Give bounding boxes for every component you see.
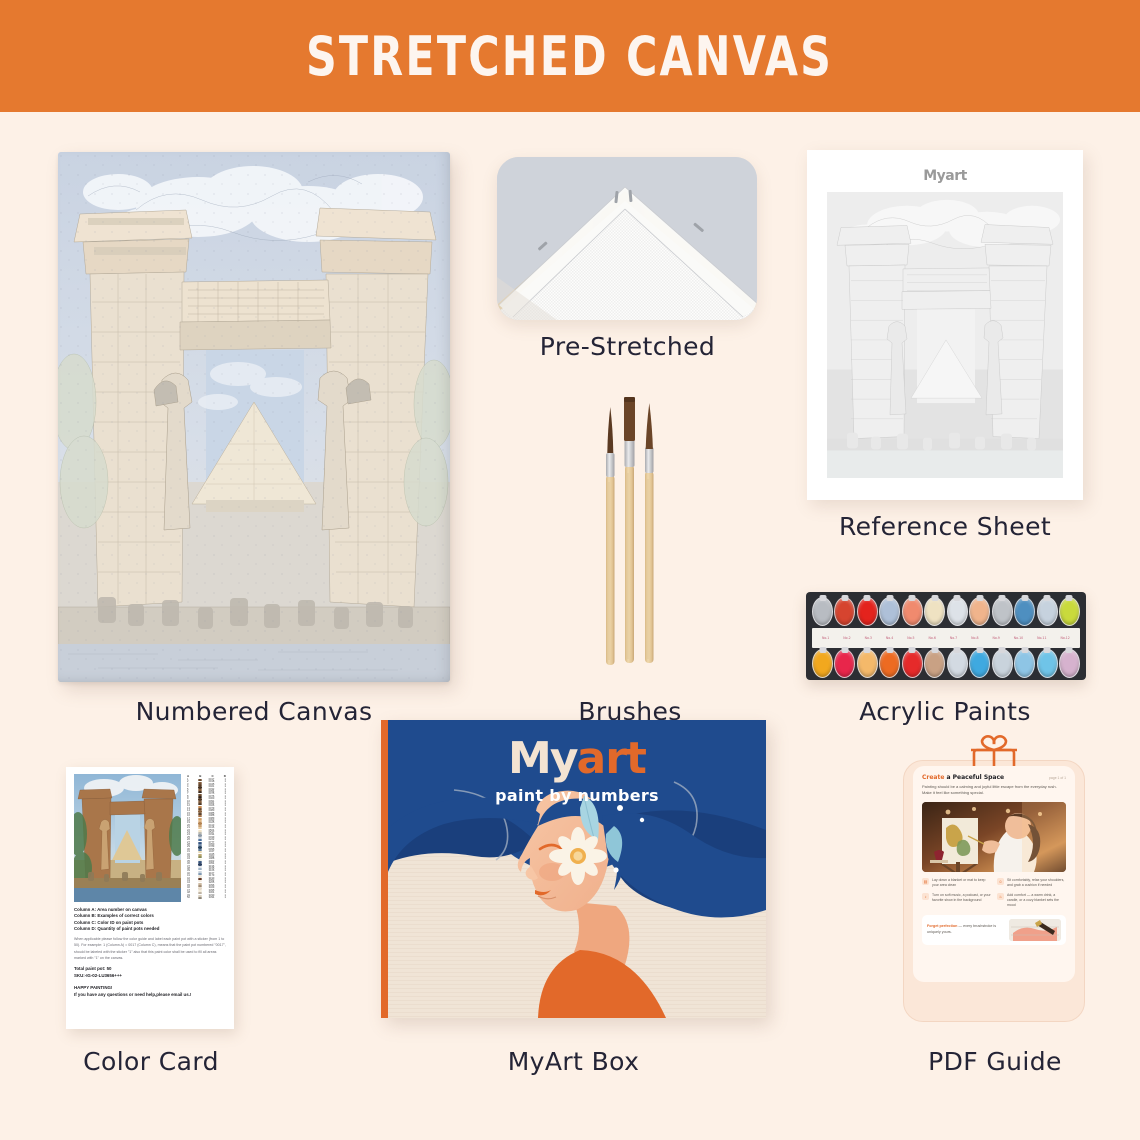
paint-pot-label: No.3	[865, 636, 872, 640]
paint-pot	[1037, 649, 1058, 678]
paint-row-top	[812, 597, 1080, 627]
caption-reference-sheet: Reference Sheet	[790, 512, 1100, 541]
pdf-tip: ♪ Turn on soft music, a podcast, or your…	[922, 893, 991, 909]
pdf-tip-text: Turn on soft music, a podcast, or your f…	[932, 893, 991, 909]
paint-pot	[812, 597, 833, 626]
cc-color-id: 3394	[206, 897, 217, 899]
paint-tray-label: No.1No.2No.3No.4No.5No.6No.7No.8No.9No.1…	[812, 628, 1080, 648]
color-card-fine-print: When applicable please follow the color …	[74, 936, 227, 961]
paint-pot	[1037, 597, 1058, 626]
caption-pre-stretched: Pre-Stretched	[480, 332, 775, 361]
paint-pot	[857, 597, 878, 626]
pdf-tip: ♨ Add comfort — a warm drink, a candle, …	[997, 893, 1066, 909]
paint-pot	[924, 597, 945, 626]
pdf-guide-page: Create a Peaceful Space page 1 of 1 Pain…	[913, 766, 1075, 982]
candle-icon: ♨	[997, 893, 1004, 900]
paint-pot	[1014, 597, 1035, 626]
blanket-icon: ▤	[922, 878, 929, 885]
brush-round	[645, 403, 654, 663]
paint-pot	[992, 649, 1013, 678]
paint-tray: No.1No.2No.3No.4No.5No.6No.7No.8No.9No.1…	[806, 592, 1086, 680]
pdf-page-label: page 1 of 1	[1049, 776, 1066, 780]
egyptian-gate-lineart	[58, 152, 450, 682]
full-color-gate-painting	[74, 774, 181, 902]
total-paint-pot: Total paint pot: 50	[74, 966, 227, 972]
brush-stroke-closeup	[1009, 919, 1061, 941]
pdf-guide-item: Create a Peaceful Space page 1 of 1 Pain…	[903, 732, 1085, 1022]
paint-brushes-illustration	[568, 387, 693, 677]
myart-box-image: Myart paint by numbers	[381, 720, 766, 1018]
pdf-heading-highlight: Create	[922, 774, 944, 781]
paint-pot-label: No.4	[886, 636, 893, 640]
page-header: STRETCHED CANVAS	[0, 0, 1140, 112]
logo-art-text: art	[577, 733, 646, 784]
caption-color-card: Color Card	[36, 1047, 266, 1076]
canvas-corner-illustration	[497, 157, 757, 320]
reference-sheet-item: Myart	[807, 150, 1083, 500]
pdf-note-image	[1009, 919, 1061, 941]
reference-sheet-lineart	[827, 192, 1063, 478]
cc-quantity: 1	[221, 897, 226, 899]
paint-pot	[857, 649, 878, 678]
sku-text: SKU:-IG-02-LU3656+++	[74, 973, 227, 979]
pdf-tip-text: Sit comfortably, relax your shoulders, a…	[1007, 878, 1066, 889]
paint-pot	[834, 649, 855, 678]
paint-pot-label: No.8	[971, 636, 978, 640]
paint-pot	[1059, 649, 1080, 678]
pdf-tips-list: ▤ Lay down a blanket or mat to keep your…	[922, 878, 1066, 909]
paint-pot-label: No.1	[822, 636, 829, 640]
pdf-heading: Create a Peaceful Space	[922, 774, 1004, 781]
pdf-tip: ☺ Sit comfortably, relax your shoulders,…	[997, 878, 1066, 889]
paint-pot-label: No.12	[1060, 636, 1069, 640]
product-contents-grid: Numbered Canvas	[0, 112, 1140, 1140]
pre-stretched-item	[497, 157, 757, 320]
logo-my-text: My	[508, 733, 576, 784]
legend-d: Column D: Quantity of paint pots needed	[74, 926, 227, 932]
support-text: If you have any questions or need help,p…	[74, 992, 227, 998]
pdf-tip-text: Lay down a blanket or mat to keep your a…	[932, 878, 991, 889]
caption-acrylic-paints: Acrylic Paints	[800, 697, 1090, 726]
pre-stretched-photo	[497, 157, 757, 320]
page-title: STRETCHED CANVAS	[306, 25, 833, 88]
myart-box-item: Myart paint by numbers	[381, 720, 766, 1018]
paint-pot-label: No.2	[843, 636, 850, 640]
brush-round-thin	[606, 407, 615, 665]
caption-myart-box: MyArt Box	[381, 1047, 766, 1076]
color-card-legend: Column A: Area number on canvas Column B…	[74, 907, 227, 998]
paint-pot	[947, 597, 968, 626]
logo-tagline: paint by numbers	[388, 786, 766, 805]
caption-pdf-guide: PDF Guide	[880, 1047, 1110, 1076]
paint-pot	[947, 649, 968, 678]
pdf-tip-text: Add comfort — a warm drink, a candle, or…	[1007, 893, 1066, 909]
paint-pot	[992, 597, 1013, 626]
paint-pot-label: No.10	[1014, 636, 1023, 640]
paint-pot	[879, 649, 900, 678]
paint-pot	[924, 649, 945, 678]
color-card-row: 5033941	[186, 897, 227, 899]
cc-area-number: 50	[187, 897, 194, 899]
myart-box-logo: Myart paint by numbers	[388, 733, 766, 805]
pdf-note-text: Forget perfection — every brushstroke is…	[927, 924, 1004, 935]
color-card-sheet: A B C D 10017120018130045140021150032160…	[66, 767, 234, 1029]
paint-pot	[902, 597, 923, 626]
brushes-item	[568, 387, 693, 677]
paint-pot	[1014, 649, 1035, 678]
paint-pot	[969, 597, 990, 626]
paint-pot	[969, 649, 990, 678]
numbered-canvas-image	[58, 152, 450, 682]
color-card-table: A B C D 10017120018130045140021150032160…	[186, 774, 227, 902]
paint-pot-label: No.7	[950, 636, 957, 640]
happy-painting-text: HAPPY PAINTING!	[74, 985, 227, 991]
woman-painting-photo	[922, 802, 1066, 872]
paint-pot	[812, 649, 833, 678]
paint-pot	[1059, 597, 1080, 626]
pdf-tip: ▤ Lay down a blanket or mat to keep your…	[922, 878, 991, 889]
paint-pot	[902, 649, 923, 678]
brush-flat	[624, 397, 635, 663]
paint-pot-label: No.6	[929, 636, 936, 640]
grayscale-gate-lineart	[827, 192, 1063, 478]
color-card-item: A B C D 10017120018130045140021150032160…	[66, 767, 234, 1029]
paint-pot-label: No.9	[992, 636, 999, 640]
col-b: B	[199, 774, 201, 778]
paint-pot	[834, 597, 855, 626]
acrylic-paints-item: No.1No.2No.3No.4No.5No.6No.7No.8No.9No.1…	[806, 592, 1086, 680]
chair-icon: ☺	[997, 878, 1004, 885]
pdf-note-box: Forget perfection — every brushstroke is…	[922, 915, 1066, 945]
pdf-guide-photo	[922, 802, 1066, 872]
myart-logo-reference: Myart	[923, 168, 967, 184]
color-card-preview-image	[74, 774, 181, 902]
numbered-canvas-item	[58, 152, 450, 682]
reference-sheet-paper: Myart	[807, 150, 1083, 500]
pdf-subtitle: Painting should be a calming and joyful …	[922, 784, 1066, 797]
music-icon: ♪	[922, 893, 929, 900]
cc-color-swatch	[198, 897, 202, 899]
pdf-heading-rest: a Peaceful Space	[944, 774, 1004, 781]
color-card-rows: 1001712001813004514002115003216005417007…	[186, 779, 227, 899]
paint-pot-label: No.5	[907, 636, 914, 640]
pdf-note-bold: Forget perfection	[927, 924, 957, 928]
paint-pot	[879, 597, 900, 626]
paint-pot-label: No.11	[1037, 636, 1046, 640]
paint-row-bottom	[812, 649, 1080, 679]
